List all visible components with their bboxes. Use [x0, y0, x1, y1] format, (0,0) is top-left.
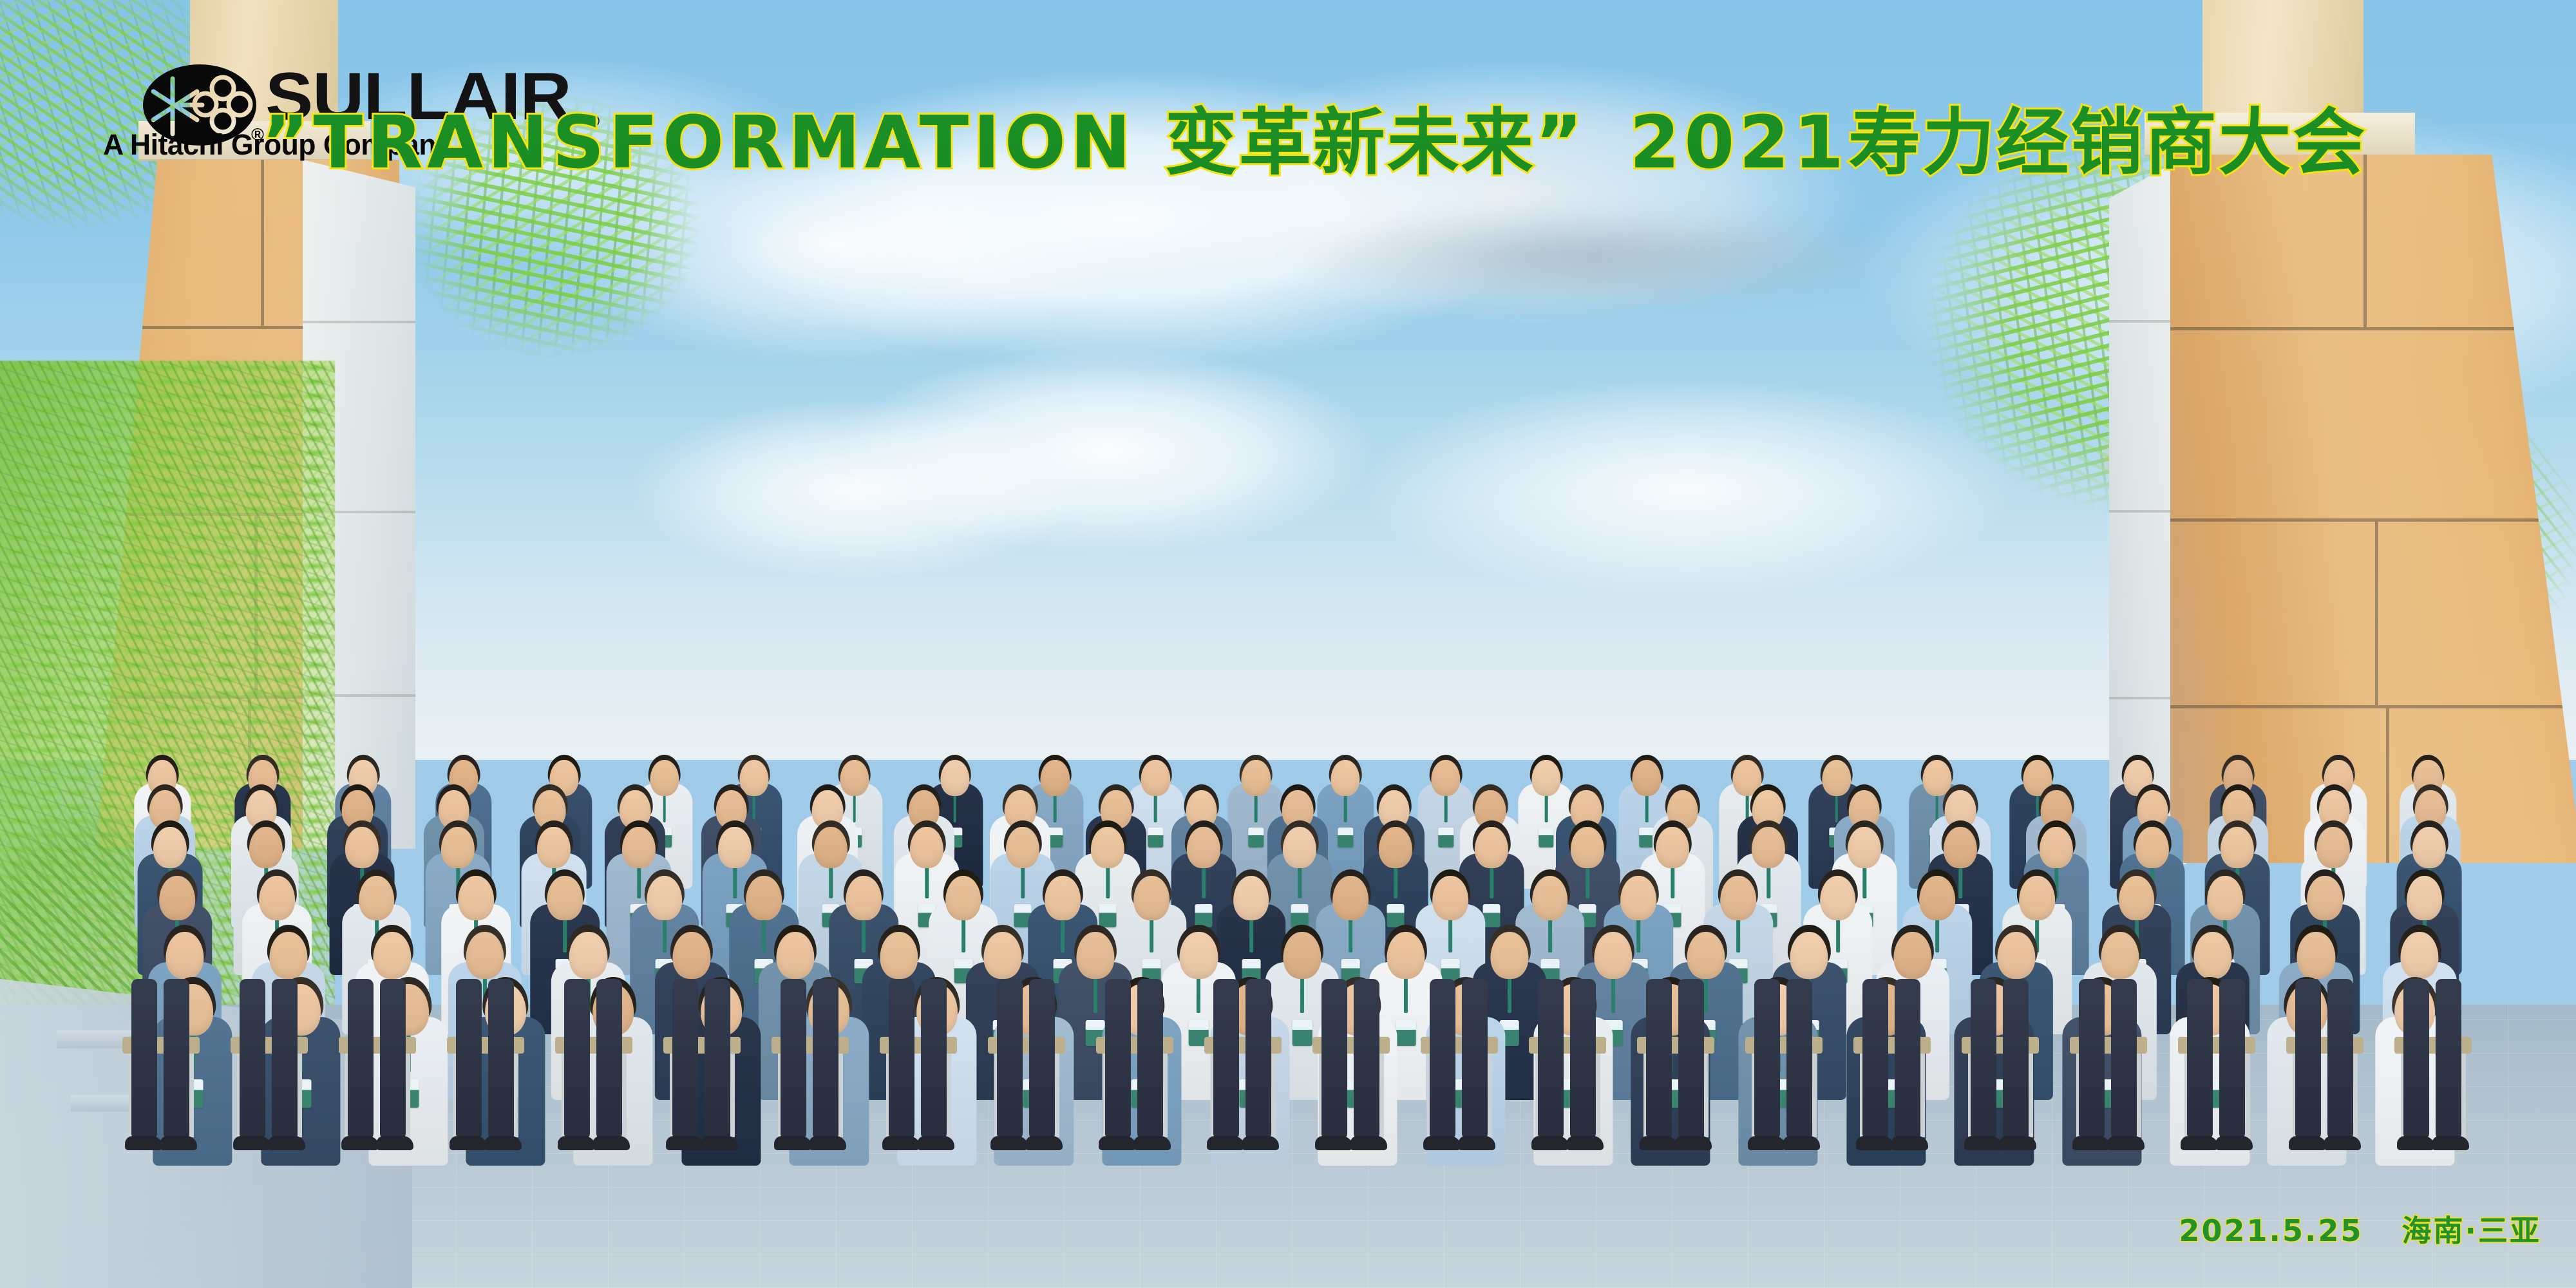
attendee-trousers: [813, 979, 838, 1140]
attendee-shoe: [160, 1136, 197, 1150]
attendee-shoe: [2397, 1136, 2434, 1150]
attendee-shoe: [1242, 1136, 1279, 1150]
attendee-trousers: [2436, 979, 2461, 1140]
banner-close-quote: ”: [1535, 101, 1585, 185]
chair-leg: [1055, 1054, 1059, 1137]
banner-year: 2021: [1629, 101, 1848, 185]
chair-leg: [1488, 1054, 1492, 1137]
attendee-shoe: [1350, 1136, 1387, 1150]
attendee-trousers: [1570, 979, 1596, 1140]
attendee-trousers: [1862, 979, 1888, 1140]
attendee-trousers: [1678, 979, 1704, 1140]
attendee-shoe: [2215, 1136, 2253, 1150]
cloud-shadow: [1191, 193, 1996, 322]
attendee-shoe: [1566, 1136, 1604, 1150]
banner-english-title: TRANSFORMATION: [314, 101, 1135, 185]
chair-leg: [406, 1054, 410, 1137]
attendee-shoe: [1964, 1136, 2002, 1150]
event-banner-title: ”TRANSFORMATION变革新未来”2021寿力经销商大会: [261, 107, 2367, 179]
attendee-trousers: [240, 979, 265, 1140]
attendee-trousers: [1029, 979, 1055, 1140]
chair-leg: [1271, 1054, 1276, 1137]
attendee-trousers: [272, 979, 298, 1140]
attendee-trousers: [1754, 979, 1780, 1140]
attendee-shoe: [376, 1136, 413, 1150]
attendee-trousers: [380, 979, 406, 1140]
attendee-shoe: [341, 1136, 379, 1150]
attendee-trousers: [1786, 979, 1812, 1140]
attendee-shoe: [917, 1136, 954, 1150]
group-photo-canvas: ® SULLAIR ® A Hitachi Group Company ”TRA…: [0, 0, 2576, 1288]
attendee-trousers: [2187, 979, 2213, 1140]
attendee-trousers: [2219, 979, 2245, 1140]
attendee-trousers: [2079, 979, 2105, 1140]
chair-leg: [1596, 1054, 1600, 1137]
attendee-trousers: [1137, 979, 1163, 1140]
attendee-shoe: [1207, 1136, 1244, 1150]
attendee-trousers: [164, 979, 189, 1140]
attendee-shoe: [2072, 1136, 2110, 1150]
chair-leg: [1704, 1054, 1709, 1137]
attendee-shoe: [701, 1136, 738, 1150]
chair-leg: [514, 1054, 518, 1137]
attendee-trousers: [2295, 979, 2321, 1140]
attendee-trousers: [2111, 979, 2137, 1140]
chair-leg: [2461, 1054, 2466, 1137]
chair-leg: [730, 1054, 735, 1137]
attendee-shoe: [2289, 1136, 2326, 1150]
chair-leg: [2137, 1054, 2141, 1137]
attendee-crowd: [0, 502, 2576, 1146]
chair-leg: [298, 1054, 302, 1137]
attendee-shoe: [882, 1136, 920, 1150]
attendee-trousers: [488, 979, 514, 1140]
attendee-trousers: [1105, 979, 1131, 1140]
attendee-trousers: [705, 979, 730, 1140]
attendee-trousers: [2403, 979, 2429, 1140]
chair-leg: [1920, 1054, 1925, 1137]
attendee-shoe: [1315, 1136, 1352, 1150]
stamp-date: 2021.5.25: [2179, 1213, 2363, 1248]
attendee-trousers: [2327, 979, 2353, 1140]
attendee-shoe: [592, 1136, 630, 1150]
attendee-trousers: [1971, 979, 1996, 1140]
attendee-trousers: [596, 979, 622, 1140]
chair-leg: [838, 1054, 843, 1137]
attendee-trousers: [1895, 979, 1920, 1140]
attendee-shoe: [2107, 1136, 2145, 1150]
attendee-shoe: [233, 1136, 270, 1150]
banner-chinese-title: 变革新未来: [1165, 101, 1535, 185]
attendee-trousers: [1462, 979, 1488, 1140]
pillar-right-cap: [2202, 0, 2363, 113]
attendee-trousers: [1321, 979, 1347, 1140]
attendee-trousers: [672, 979, 698, 1140]
banner-open-quote: ”: [261, 101, 314, 185]
stamp-location: 海南·三亚: [2402, 1213, 2541, 1248]
attendee-trousers: [921, 979, 947, 1140]
attendee-shoe: [666, 1136, 703, 1150]
attendee-shoe: [1674, 1136, 1712, 1150]
attendee-shoe: [1458, 1136, 1495, 1150]
attendee-trousers: [1245, 979, 1271, 1140]
attendee-trousers: [131, 979, 157, 1140]
attendee-shoe: [1099, 1136, 1136, 1150]
chair-leg: [1163, 1054, 1168, 1137]
attendee-trousers: [781, 979, 806, 1140]
attendee-trousers: [1213, 979, 1239, 1140]
attendee-shoe: [1025, 1136, 1063, 1150]
attendee-shoe: [1133, 1136, 1171, 1150]
attendee-shoe: [1640, 1136, 1677, 1150]
attendee-shoe: [1531, 1136, 1569, 1150]
attendee-shoe: [125, 1136, 162, 1150]
attendee-shoe: [484, 1136, 522, 1150]
attendee-shoe: [1999, 1136, 2036, 1150]
attendee-shoe: [809, 1136, 846, 1150]
attendee-trousers: [348, 979, 374, 1140]
attendee-shoe: [2181, 1136, 2218, 1150]
chair-leg: [1379, 1054, 1384, 1137]
attendee-trousers: [1354, 979, 1379, 1140]
chair-leg: [2353, 1054, 2358, 1137]
attendee-shoe: [558, 1136, 595, 1150]
attendee-trousers: [1646, 979, 1672, 1140]
chair-leg: [1812, 1054, 1817, 1137]
attendee-trousers: [1430, 979, 1455, 1140]
attendee-trousers: [456, 979, 482, 1140]
attendee-trousers: [889, 979, 914, 1140]
attendee-shoe: [268, 1136, 305, 1150]
attendee-shoe: [990, 1136, 1028, 1150]
attendee-shoe: [2324, 1136, 2361, 1150]
attendee-trousers: [1538, 979, 1564, 1140]
attendee-trousers: [2003, 979, 2029, 1140]
attendee-trousers: [997, 979, 1023, 1140]
chair-leg: [2029, 1054, 2033, 1137]
attendee-shoe: [1783, 1136, 1820, 1150]
attendee-trousers: [564, 979, 590, 1140]
chair-leg: [189, 1054, 194, 1137]
date-location-stamp: 2021.5.25 海南·三亚: [2179, 1216, 2541, 1245]
attendee-shoe: [2432, 1136, 2469, 1150]
attendee-shoe: [1748, 1136, 1785, 1150]
chair-leg: [2245, 1054, 2249, 1137]
attendee-shoe: [1891, 1136, 1928, 1150]
chair-leg: [947, 1054, 951, 1137]
attendee-shoe: [1423, 1136, 1461, 1150]
attendee-shoe: [774, 1136, 811, 1150]
chair-leg: [622, 1054, 627, 1137]
attendee-shoe: [1856, 1136, 1893, 1150]
attendee-shoe: [450, 1136, 487, 1150]
banner-event-name: 寿力经销商大会: [1848, 101, 2367, 185]
